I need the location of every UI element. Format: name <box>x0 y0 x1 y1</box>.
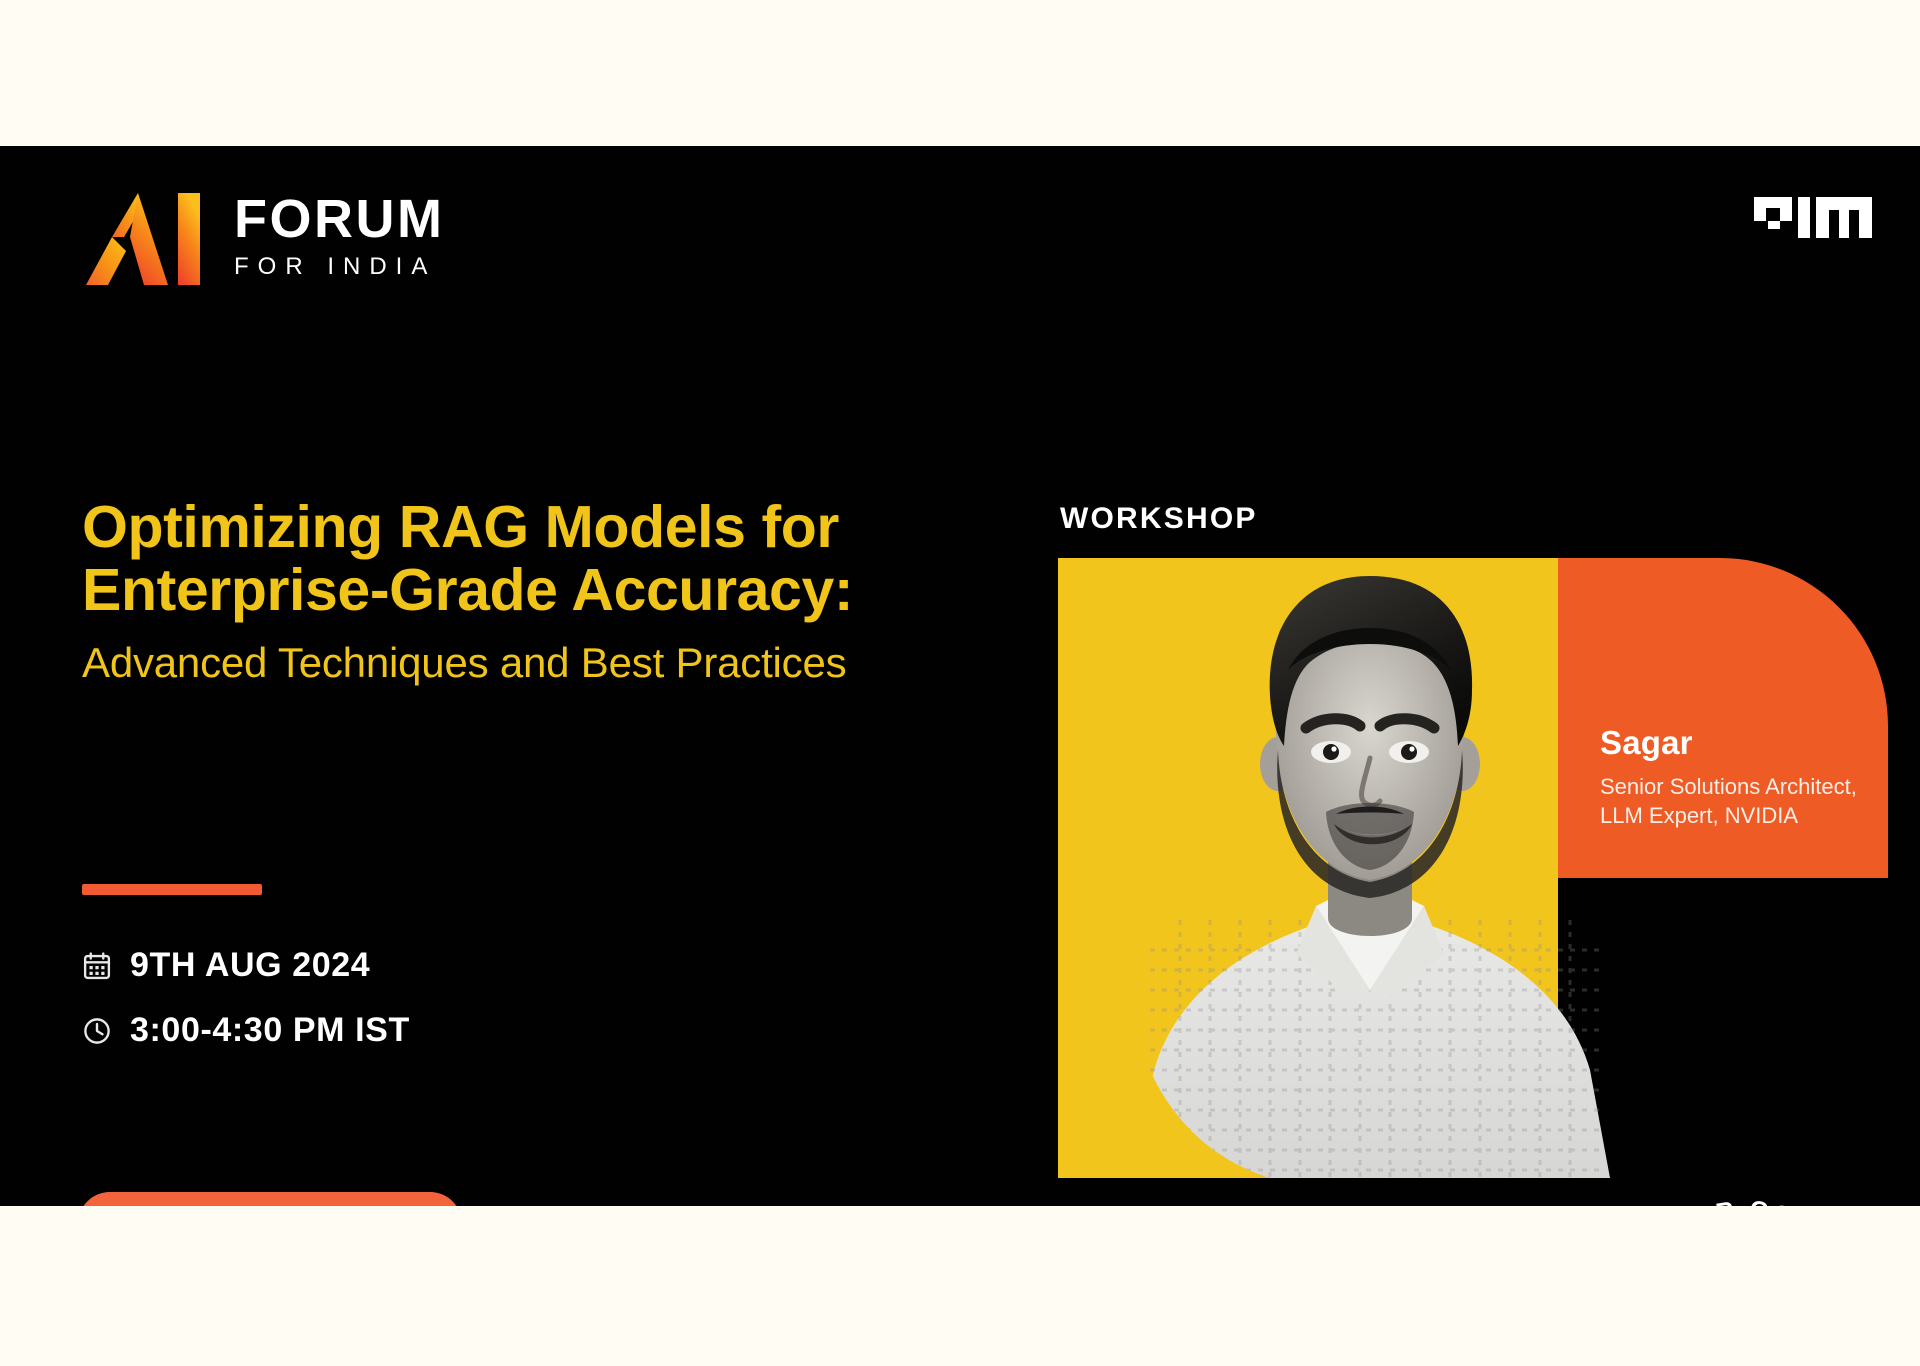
banner-panel: FORUM FOR INDIA Optimizing RAG Models fo… <box>0 146 1920 1206</box>
brand-wordmark: FORUM FOR INDIA <box>234 193 444 286</box>
brand-for-india-text: FOR INDIA <box>234 249 444 285</box>
svg-text:JOIN OUR COMMUNITY TODAY.: JOIN OUR COMMUNITY TODAY. <box>1611 1196 1887 1206</box>
speaker-card: Sagar Senior Solutions Architect, LLM Ex… <box>1058 558 1888 1178</box>
workshop-kicker: WORKSHOP <box>1060 502 1258 536</box>
speaker-headshot <box>1120 550 1620 1178</box>
event-time-row: 3:00-4:30 PM IST <box>82 1011 410 1050</box>
event-time-text: 3:00-4:30 PM IST <box>130 1011 410 1050</box>
event-meta: 9TH AUG 2024 3:00-4:30 PM IST <box>82 946 410 1050</box>
circular-text: JOIN OUR COMMUNITY TODAY. <box>1611 1196 1887 1206</box>
headline-subtitle: Advanced Techniques and Best Practices <box>82 639 1012 687</box>
speaker-photo-tile <box>1058 558 1558 1178</box>
circular-text-ring: JOIN OUR COMMUNITY TODAY. <box>1596 1186 1896 1206</box>
headline-block: Optimizing RAG Models for Enterprise-Gra… <box>82 496 1012 687</box>
clock-icon <box>82 1016 112 1046</box>
event-date-row: 9TH AUG 2024 <box>82 946 410 985</box>
brand-logo[interactable]: FORUM FOR INDIA <box>82 191 444 287</box>
poster-canvas: FORUM FOR INDIA Optimizing RAG Models fo… <box>0 0 1920 1366</box>
aim-logo-icon[interactable] <box>1754 188 1872 238</box>
headline-line-1: Optimizing RAG Models for <box>82 496 1012 559</box>
accent-divider <box>82 884 262 895</box>
event-date-text: 9TH AUG 2024 <box>130 946 370 985</box>
ai-monogram-icon <box>82 191 208 287</box>
headline-line-2: Enterprise-Grade Accuracy: <box>82 559 1012 622</box>
register-now-button[interactable]: REGISTER NOW <box>78 1192 462 1206</box>
speaker-role: Senior Solutions Architect, LLM Expert, … <box>1600 772 1868 830</box>
calendar-icon <box>82 951 112 981</box>
brand-forum-text: FORUM <box>234 193 444 246</box>
community-qr-badge[interactable]: JOIN OUR COMMUNITY TODAY. <box>1596 1186 1896 1206</box>
